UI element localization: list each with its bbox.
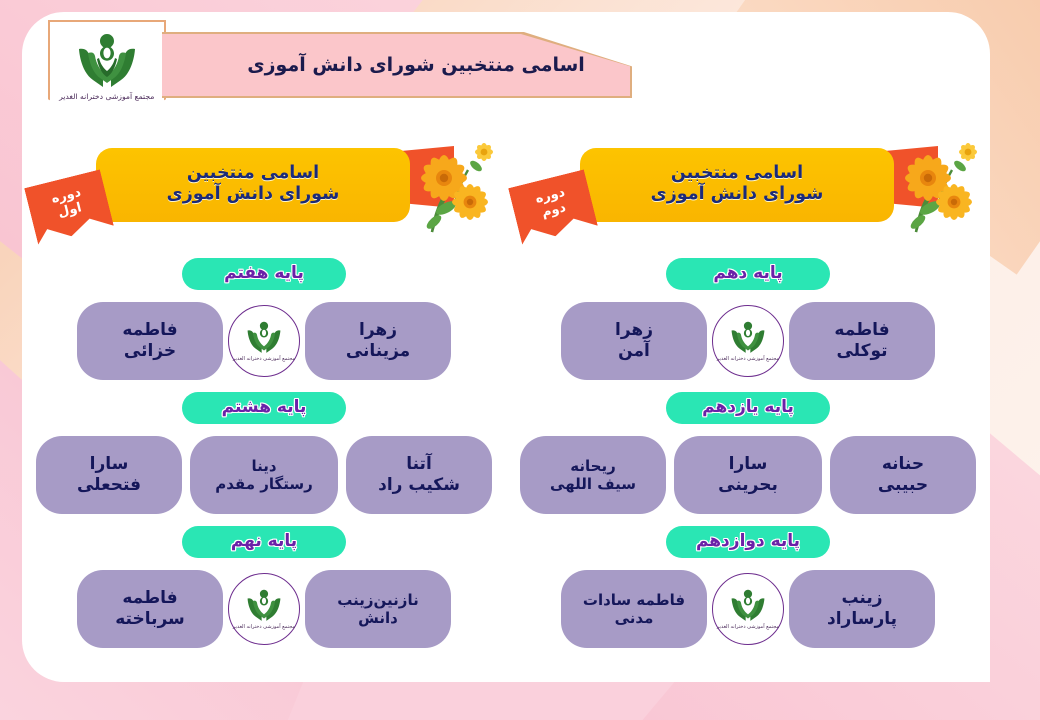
name-line1: سارا bbox=[718, 454, 778, 475]
name-line1: حنانه bbox=[878, 454, 928, 475]
page-title: اسامی منتخبین شورای دانش آموزی bbox=[247, 54, 585, 76]
name-line2: دانش bbox=[337, 609, 418, 627]
name-line2: سیف اللهی bbox=[550, 475, 636, 493]
name-pill[interactable]: آتنا شکیب راد bbox=[346, 436, 492, 514]
center-logo-badge: مجتمع آموزشی دخترانه الغدیر bbox=[223, 568, 305, 650]
grade-badge[interactable]: پایه یازدهم bbox=[666, 392, 830, 424]
grade-badge[interactable]: پایه نهم bbox=[182, 526, 346, 558]
name-line2: آمن bbox=[615, 341, 653, 362]
ribbon-line1: اسامی منتخبین bbox=[651, 163, 824, 184]
grade-block: پایه دهم فاطمه توکلی bbox=[506, 258, 990, 382]
ribbon-banner-aval: اسامی منتخبین شورای دانش آموزی دوره اول bbox=[22, 130, 506, 248]
center-logo-caption: مجتمع آموزشی دخترانه الغدیر bbox=[233, 356, 295, 362]
school-emblem-icon bbox=[729, 588, 767, 622]
ribbon-period-badge: دوره دوم bbox=[508, 169, 598, 244]
poster-card: مجتمع آموزشی دخترانه الغدیر اسامی منتخبی… bbox=[22, 12, 990, 682]
name-pill[interactable]: فاطمه توکلی bbox=[789, 302, 935, 380]
grade-badge[interactable]: پایه هشتم bbox=[182, 392, 346, 424]
name-pill[interactable]: نازنین‌زینب دانش bbox=[305, 570, 451, 648]
grade-badge[interactable]: پایه دهم bbox=[666, 258, 830, 290]
name-pill[interactable]: زهرا آمن bbox=[561, 302, 707, 380]
name-line1: نازنین‌زینب bbox=[337, 591, 418, 609]
names-row: نازنین‌زینب دانش bbox=[22, 568, 506, 650]
names-row: حنانه حبیبی سارا بحرینی ری bbox=[506, 434, 990, 516]
name-line2: مدنی bbox=[583, 609, 685, 627]
page-title-banner: اسامی منتخبین شورای دانش آموزی bbox=[162, 32, 632, 98]
name-line2: فتحعلی bbox=[77, 475, 141, 496]
names-row: زهرا مزینانی bbox=[22, 300, 506, 382]
name-line1: فاطمه bbox=[115, 588, 185, 609]
name-pill[interactable]: فاطمه سرباخته bbox=[77, 570, 223, 648]
grade-badge[interactable]: پایه هفتم bbox=[182, 258, 346, 290]
names-row: فاطمه توکلی bbox=[506, 300, 990, 382]
column-dowreh-aval: اسامی منتخبین شورای دانش آموزی دوره اول bbox=[22, 124, 506, 682]
name-line2: سرباخته bbox=[115, 609, 185, 630]
column-dowreh-dovom: اسامی منتخبین شورای دانش آموزی دوره دوم bbox=[506, 124, 990, 682]
name-pill[interactable]: ریحانه سیف اللهی bbox=[520, 436, 666, 514]
name-pill[interactable]: سارا بحرینی bbox=[674, 436, 822, 514]
grade-block: پایه هفتم زهرا مزینانی bbox=[22, 258, 506, 382]
names-row: زینب پارساراد bbox=[506, 568, 990, 650]
name-line1: آتنا bbox=[378, 454, 460, 475]
name-line2: رستگار مقدم bbox=[215, 475, 312, 493]
school-logo-caption: مجتمع آموزشی دخترانه الغدیر bbox=[59, 92, 154, 101]
poster-header: مجتمع آموزشی دخترانه الغدیر اسامی منتخبی… bbox=[22, 12, 990, 124]
grade-badge[interactable]: پایه دوازدهم bbox=[666, 526, 830, 558]
name-line2: توکلی bbox=[834, 341, 889, 362]
grade-block: پایه نهم نازنین‌زینب دانش bbox=[22, 526, 506, 650]
school-logo-shield: مجتمع آموزشی دخترانه الغدیر bbox=[48, 20, 166, 130]
name-line1: فاطمه bbox=[834, 320, 889, 341]
name-pill[interactable]: زهرا مزینانی bbox=[305, 302, 451, 380]
school-emblem-icon bbox=[75, 31, 139, 89]
name-line2: شکیب راد bbox=[378, 475, 460, 496]
ribbon-line2: شورای دانش آموزی bbox=[167, 184, 340, 205]
name-pill[interactable]: حنانه حبیبی bbox=[830, 436, 976, 514]
center-logo-badge: مجتمع آموزشی دخترانه الغدیر bbox=[223, 300, 305, 382]
name-line1: زینب bbox=[827, 588, 897, 609]
name-pill[interactable]: سارا فتحعلی bbox=[36, 436, 182, 514]
ribbon-banner-dovom: اسامی منتخبین شورای دانش آموزی دوره دوم bbox=[506, 130, 990, 248]
names-row: آتنا شکیب راد دینا رستگار مقدم bbox=[22, 434, 506, 516]
marigold-flowers-icon bbox=[882, 136, 990, 242]
name-line2: حبیبی bbox=[878, 475, 928, 496]
name-line1: فاطمه سادات bbox=[583, 591, 685, 609]
center-logo-caption: مجتمع آموزشی دخترانه الغدیر bbox=[717, 356, 779, 362]
ribbon-line2: شورای دانش آموزی bbox=[651, 184, 824, 205]
name-pill[interactable]: زینب پارساراد bbox=[789, 570, 935, 648]
name-line2: بحرینی bbox=[718, 475, 778, 496]
center-logo-badge: مجتمع آموزشی دخترانه الغدیر bbox=[707, 300, 789, 382]
grade-block: پایه دوازدهم زینب پارساراد bbox=[506, 526, 990, 650]
name-line1: سارا bbox=[77, 454, 141, 475]
ribbon-period-badge: دوره اول bbox=[24, 169, 114, 244]
marigold-flowers-icon bbox=[398, 136, 506, 242]
grade-block: پایه هشتم آتنا شکیب راد دینا رستگار مقدم bbox=[22, 392, 506, 516]
name-line2: مزینانی bbox=[346, 341, 410, 362]
school-emblem-icon bbox=[245, 320, 283, 354]
name-pill[interactable]: فاطمه سادات مدنی bbox=[561, 570, 707, 648]
name-line1: زهرا bbox=[615, 320, 653, 341]
name-line1: فاطمه bbox=[122, 320, 177, 341]
ribbon-line1: اسامی منتخبین bbox=[167, 163, 340, 184]
center-logo-caption: مجتمع آموزشی دخترانه الغدیر bbox=[233, 624, 295, 630]
center-logo-badge: مجتمع آموزشی دخترانه الغدیر bbox=[707, 568, 789, 650]
name-line2: خزائی bbox=[122, 341, 177, 362]
school-emblem-icon bbox=[245, 588, 283, 622]
columns-container: اسامی منتخبین شورای دانش آموزی دوره دوم bbox=[22, 124, 990, 682]
name-line1: ریحانه bbox=[550, 457, 636, 475]
name-line1: زهرا bbox=[346, 320, 410, 341]
name-line2: پارساراد bbox=[827, 609, 897, 630]
name-line1: دینا bbox=[215, 457, 312, 475]
name-pill[interactable]: دینا رستگار مقدم bbox=[190, 436, 338, 514]
name-pill[interactable]: فاطمه خزائی bbox=[77, 302, 223, 380]
school-emblem-icon bbox=[729, 320, 767, 354]
grade-block: پایه یازدهم حنانه حبیبی سارا بحرینی bbox=[506, 392, 990, 516]
center-logo-caption: مجتمع آموزشی دخترانه الغدیر bbox=[717, 624, 779, 630]
